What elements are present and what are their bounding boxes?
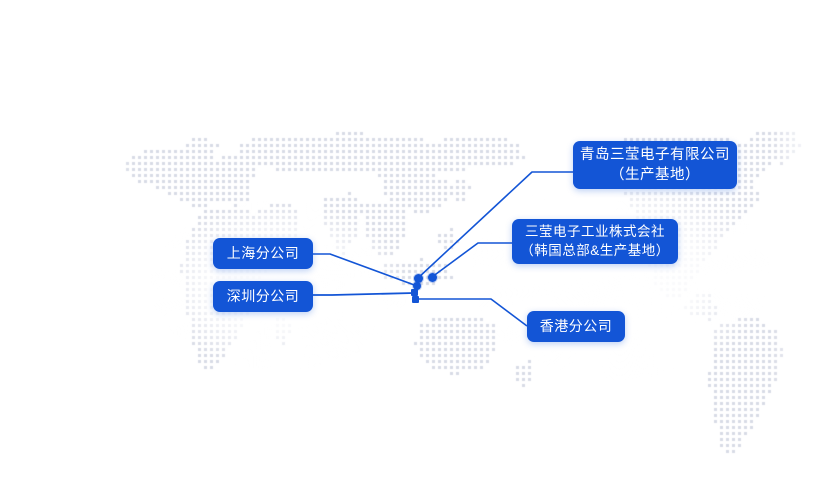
label-qingdao-line2: （生产基地） [610, 165, 700, 185]
label-qingdao[interactable]: 青岛三莹电子有限公司 （生产基地） [573, 141, 737, 189]
label-shenzhen[interactable]: 深圳分公司 [213, 281, 313, 312]
label-shenzhen-line1: 深圳分公司 [227, 287, 300, 306]
label-korea-line2: （韩国总部&生产基地） [520, 242, 670, 261]
world-map-infographic: 青岛三莹电子有限公司 （生产基地） 三莹电子工业株式会社 （韩国总部&生产基地）… [0, 0, 824, 480]
connector-shanghai [313, 254, 417, 286]
label-shanghai-line1: 上海分公司 [227, 244, 300, 263]
connector-hongkong [416, 299, 527, 326]
label-shanghai[interactable]: 上海分公司 [213, 238, 313, 269]
label-hongkong[interactable]: 香港分公司 [527, 311, 625, 342]
label-korea-hq[interactable]: 三莹电子工业株式会社 （韩国总部&生产基地） [512, 219, 678, 264]
connector-shenzhen [313, 293, 414, 295]
label-qingdao-line1: 青岛三莹电子有限公司 [580, 145, 730, 165]
node-korea[interactable] [428, 273, 437, 282]
connector-lines [0, 0, 824, 480]
connector-korea [432, 243, 512, 277]
node-shenzhen[interactable] [411, 289, 418, 296]
node-hongkong[interactable] [412, 296, 419, 303]
label-hongkong-line1: 香港分公司 [540, 317, 613, 336]
label-korea-line1: 三莹电子工业株式会社 [525, 223, 665, 242]
